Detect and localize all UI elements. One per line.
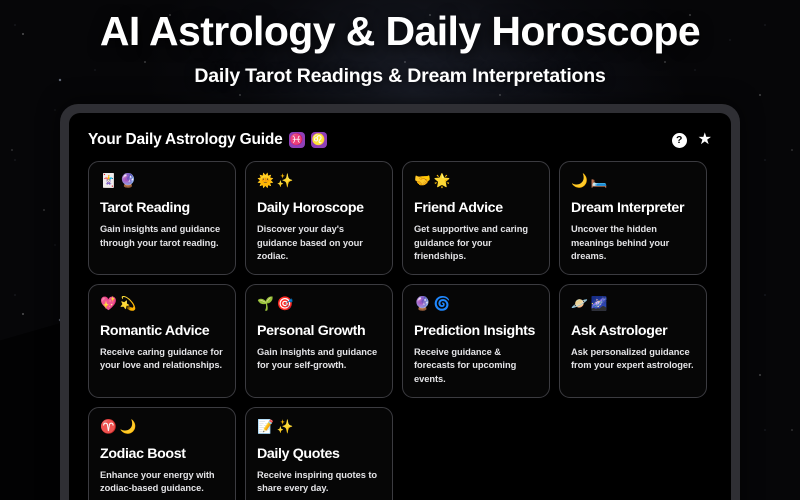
feature-card-friend-advice[interactable]: 🤝🌟Friend AdviceGet supportive and caring…: [402, 161, 550, 275]
zodiac-boost-title: Zodiac Boost: [100, 446, 224, 462]
friend-advice-title: Friend Advice: [414, 200, 538, 216]
app-background: AI Astrology & Daily Horoscope Daily Tar…: [0, 0, 800, 500]
ask-astrologer-title: Ask Astrologer: [571, 323, 695, 339]
friend-advice-description: Get supportive and caring guidance for y…: [414, 223, 538, 263]
daily-horoscope-description: Discover your day's guidance based on yo…: [257, 223, 381, 263]
panel-title: Your Daily Astrology Guide: [88, 131, 283, 149]
leo-badge: ♌: [311, 132, 327, 148]
feature-card-prediction-insights[interactable]: 🔮🌀Prediction InsightsReceive guidance & …: [402, 284, 550, 398]
feature-card-romantic-advice[interactable]: 💖💫Romantic AdviceReceive caring guidance…: [88, 284, 236, 398]
friend-advice-icon: 🤝🌟: [414, 174, 538, 189]
prediction-insights-icon: 🔮🌀: [414, 297, 538, 312]
feature-card-dream-interpreter[interactable]: 🌙🛏️Dream InterpreterUncover the hidden m…: [559, 161, 707, 275]
feature-card-ask-astrologer[interactable]: 🪐🌌Ask AstrologerAsk personalized guidanc…: [559, 284, 707, 398]
daily-quotes-title: Daily Quotes: [257, 446, 381, 462]
tarot-reading-icon: 🃏🔮: [100, 174, 224, 189]
daily-horoscope-icon: 🌞✨: [257, 174, 381, 189]
romantic-advice-description: Receive caring guidance for your love an…: [100, 346, 224, 372]
feature-card-zodiac-boost[interactable]: ♈🌙Zodiac BoostEnhance your energy with z…: [88, 407, 236, 500]
dream-interpreter-title: Dream Interpreter: [571, 200, 695, 216]
page-title: AI Astrology & Daily Horoscope: [0, 9, 800, 53]
zodiac-boost-icon: ♈🌙: [100, 420, 224, 435]
feature-card-daily-horoscope[interactable]: 🌞✨Daily HoroscopeDiscover your day's gui…: [245, 161, 393, 275]
romantic-advice-title: Romantic Advice: [100, 323, 224, 339]
daily-horoscope-title: Daily Horoscope: [257, 200, 381, 216]
personal-growth-icon: 🌱🎯: [257, 297, 381, 312]
ask-astrologer-icon: 🪐🌌: [571, 297, 695, 312]
prediction-insights-title: Prediction Insights: [414, 323, 538, 339]
romantic-advice-icon: 💖💫: [100, 297, 224, 312]
feature-card-daily-quotes[interactable]: 📝✨Daily QuotesReceive inspiring quotes t…: [245, 407, 393, 500]
feature-card-personal-growth[interactable]: 🌱🎯Personal GrowthGain insights and guida…: [245, 284, 393, 398]
dream-interpreter-icon: 🌙🛏️: [571, 174, 695, 189]
header-actions: ? ★: [672, 132, 712, 148]
panel-title-group: Your Daily Astrology Guide ♓ ♌: [88, 131, 327, 149]
dream-interpreter-description: Uncover the hidden meanings behind your …: [571, 223, 695, 263]
pisces-badge: ♓: [289, 132, 305, 148]
personal-growth-description: Gain insights and guidance for your self…: [257, 346, 381, 372]
app-screen: Your Daily Astrology Guide ♓ ♌ ? ★ 🃏🔮Tar…: [69, 113, 731, 500]
help-icon[interactable]: ?: [672, 133, 687, 148]
daily-quotes-description: Receive inspiring quotes to share every …: [257, 469, 381, 495]
tarot-reading-description: Gain insights and guidance through your …: [100, 223, 224, 249]
hero-section: AI Astrology & Daily Horoscope Daily Tar…: [0, 0, 800, 88]
tarot-reading-title: Tarot Reading: [100, 200, 224, 216]
page-subtitle: Daily Tarot Readings & Dream Interpretat…: [0, 65, 800, 88]
star-icon[interactable]: ★: [698, 132, 712, 148]
prediction-insights-description: Receive guidance & forecasts for upcomin…: [414, 346, 538, 386]
panel-header: Your Daily Astrology Guide ♓ ♌ ? ★: [69, 113, 731, 154]
daily-quotes-icon: 📝✨: [257, 420, 381, 435]
feature-card-tarot-reading[interactable]: 🃏🔮Tarot ReadingGain insights and guidanc…: [88, 161, 236, 275]
feature-card-grid: 🃏🔮Tarot ReadingGain insights and guidanc…: [69, 154, 731, 500]
personal-growth-title: Personal Growth: [257, 323, 381, 339]
ask-astrologer-description: Ask personalized guidance from your expe…: [571, 346, 695, 372]
zodiac-boost-description: Enhance your energy with zodiac-based gu…: [100, 469, 224, 495]
device-frame: Your Daily Astrology Guide ♓ ♌ ? ★ 🃏🔮Tar…: [60, 104, 740, 500]
